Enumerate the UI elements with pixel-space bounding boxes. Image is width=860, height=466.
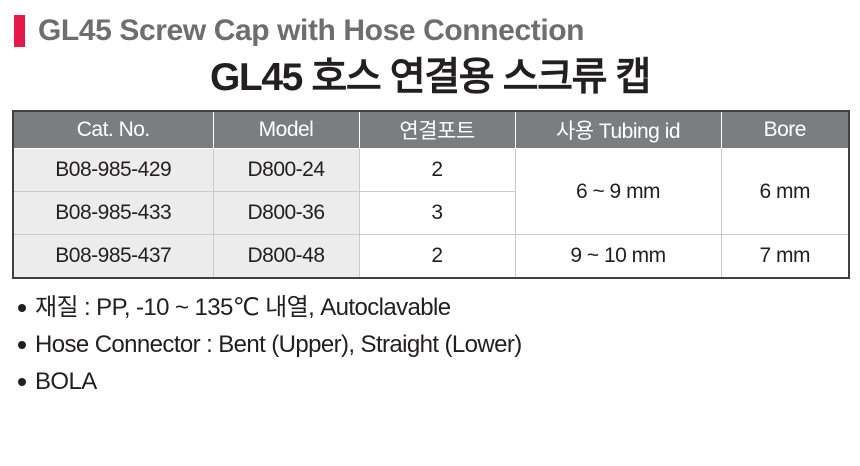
table-row: B08-985-437 D800-48 2 9 ~ 10 mm 7 mm	[13, 235, 849, 279]
list-item: 재질 : PP, -10 ~ 135℃ 내열, Autoclavable	[16, 293, 860, 323]
spec-table-wrapper: Cat. No. Model 연결포트 사용 Tubing id Bore B0…	[0, 102, 860, 279]
cell-ports: 2	[359, 149, 515, 192]
notes-list: 재질 : PP, -10 ~ 135℃ 내열, Autoclavable Hos…	[0, 279, 860, 397]
note-hose-connector: Hose Connector : Bent (Upper), Straight …	[35, 330, 522, 360]
cell-bore: 6 mm	[721, 149, 849, 235]
list-item: BOLA	[16, 367, 860, 397]
accent-bar-icon	[14, 15, 25, 47]
table-body: B08-985-429 D800-24 2 6 ~ 9 mm 6 mm B08-…	[13, 149, 849, 279]
table-header-row: Cat. No. Model 연결포트 사용 Tubing id Bore	[13, 111, 849, 149]
cell-model: D800-48	[213, 235, 359, 279]
cell-cat-no: B08-985-433	[13, 192, 213, 235]
column-header-ports: 연결포트	[359, 111, 515, 149]
cell-model: D800-36	[213, 192, 359, 235]
table-head: Cat. No. Model 연결포트 사용 Tubing id Bore	[13, 111, 849, 149]
table-row: B08-985-429 D800-24 2 6 ~ 9 mm 6 mm	[13, 149, 849, 192]
spec-table: Cat. No. Model 연결포트 사용 Tubing id Bore B0…	[12, 110, 850, 279]
bullet-dot-icon	[18, 341, 26, 349]
page-title-english: GL45 Screw Cap with Hose Connection	[38, 14, 584, 48]
column-header-cat-no: Cat. No.	[13, 111, 213, 149]
note-material: 재질 : PP, -10 ~ 135℃ 내열, Autoclavable	[35, 293, 450, 323]
cell-ports: 2	[359, 235, 515, 279]
note-brand: BOLA	[35, 367, 97, 397]
title-row: GL45 Screw Cap with Hose Connection	[0, 0, 860, 52]
cell-model: D800-24	[213, 149, 359, 192]
column-header-tubing-id: 사용 Tubing id	[515, 111, 721, 149]
page-title-korean: GL45 호스 연결용 스크류 캡	[0, 54, 860, 102]
column-header-model: Model	[213, 111, 359, 149]
product-spec-page: GL45 Screw Cap with Hose Connection GL45…	[0, 0, 860, 466]
cell-cat-no: B08-985-429	[13, 149, 213, 192]
bullet-dot-icon	[18, 304, 26, 312]
cell-ports: 3	[359, 192, 515, 235]
cell-cat-no: B08-985-437	[13, 235, 213, 279]
bullet-dot-icon	[18, 378, 26, 386]
cell-tubing-id: 6 ~ 9 mm	[515, 149, 721, 235]
list-item: Hose Connector : Bent (Upper), Straight …	[16, 330, 860, 360]
column-header-bore: Bore	[721, 111, 849, 149]
cell-bore: 7 mm	[721, 235, 849, 279]
cell-tubing-id: 9 ~ 10 mm	[515, 235, 721, 279]
